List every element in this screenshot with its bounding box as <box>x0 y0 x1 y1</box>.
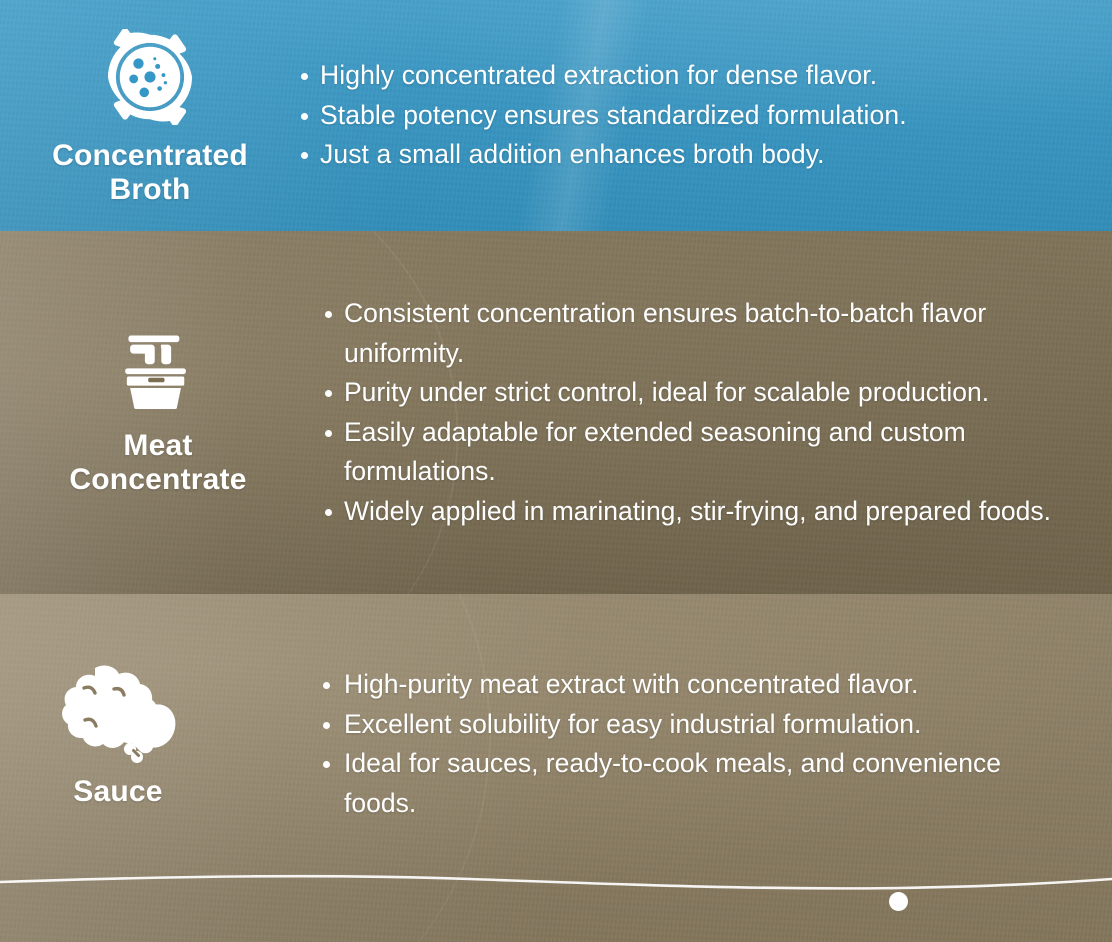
section-title-meat-concentrate: Meat Concentrate <box>69 429 246 496</box>
list-item: Widely applied in marinating, stir-fryin… <box>322 492 1072 532</box>
title-line-1: Meat <box>123 429 192 462</box>
list-item: Purity under strict control, ideal for s… <box>322 373 1072 413</box>
meat-left-column: Meat Concentrate <box>8 329 308 496</box>
section-title-sauce: Sauce <box>73 775 162 809</box>
sauce-right-column: High-purity meat extract with concentrat… <box>300 665 1112 871</box>
meat-bullet-list: Consistent concentration ensures batch-t… <box>322 294 1072 531</box>
sauce-bullet-list: High-purity meat extract with concentrat… <box>322 665 1072 823</box>
title-line-2: Concentrate <box>69 463 246 496</box>
list-item: Consistent concentration ensures batch-t… <box>322 294 1072 373</box>
section-meat-concentrate: Meat Concentrate Consistent concentratio… <box>0 231 1112 594</box>
broth-right-column: Highly concentrated extraction for dense… <box>300 56 1112 175</box>
section-title-concentrated-broth: Concentrated Broth <box>52 139 248 206</box>
title-line-1: Concentrated <box>52 139 248 172</box>
list-item: Easily adaptable for extended seasoning … <box>322 413 1072 492</box>
title-line-2: Broth <box>110 173 191 206</box>
meat-concentrate-tub-icon <box>117 329 199 411</box>
wave-progress-dot <box>889 892 908 911</box>
sauce-left-column: Sauce <box>0 664 268 873</box>
broth-pot-icon <box>102 29 198 125</box>
list-item: High-purity meat extract with concentrat… <box>322 665 1072 705</box>
section-concentrated-broth: Concentrated Broth Highly concentrated e… <box>0 0 1112 231</box>
section-sauce: Sauce High-purity meat extract with conc… <box>0 594 1112 942</box>
broth-bullet-list: Highly concentrated extraction for dense… <box>300 56 1072 175</box>
broth-left-column: Concentrated Broth <box>0 25 300 206</box>
sauce-splash-drumstick-icon <box>53 664 183 769</box>
meat-right-column: Consistent concentration ensures batch-t… <box>300 294 1112 531</box>
title-line-1: Sauce <box>73 775 162 808</box>
list-item: Just a small addition enhances broth bod… <box>300 135 1072 175</box>
infographic-root: Concentrated Broth Highly concentrated e… <box>0 0 1112 942</box>
list-item: Stable potency ensures standardized form… <box>300 96 1072 136</box>
list-item: Highly concentrated extraction for dense… <box>300 56 1072 96</box>
list-item: Ideal for sauces, ready-to-cook meals, a… <box>322 744 1072 823</box>
list-item: Excellent solubility for easy industrial… <box>322 705 1072 745</box>
